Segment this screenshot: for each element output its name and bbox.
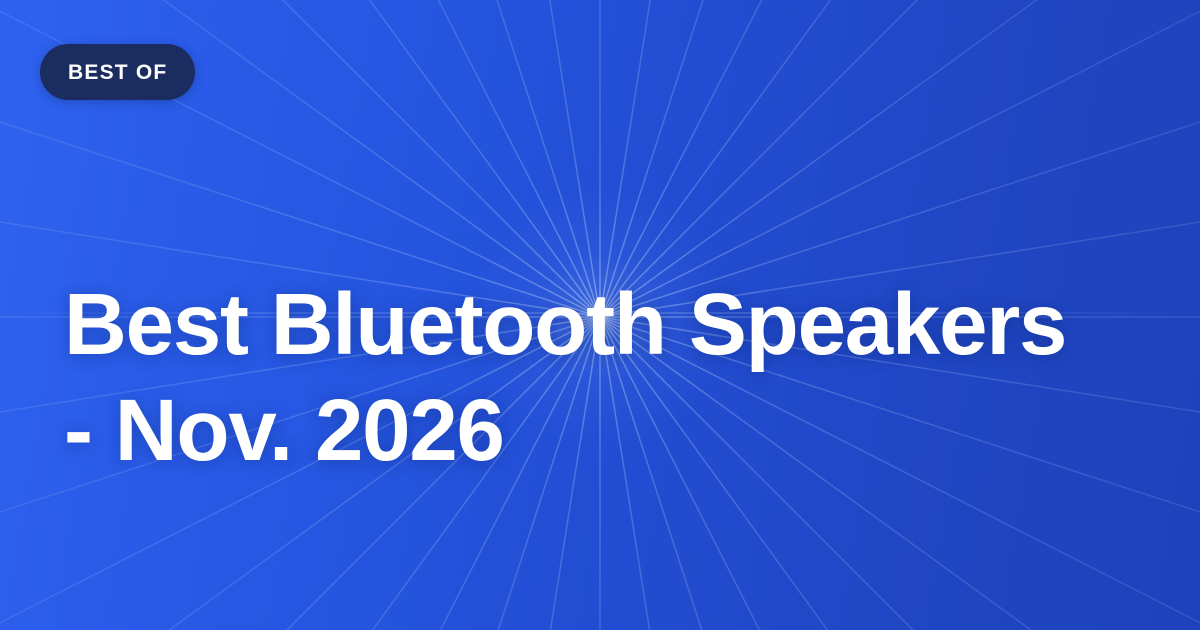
page-title-line-1: Best Bluetooth Speakers [64, 272, 1154, 378]
page-title: Best Bluetooth Speakers - Nov. 2026 [64, 272, 1154, 484]
page-title-line-2: - Nov. 2026 [64, 378, 1154, 484]
badge-label: BEST OF [68, 62, 167, 83]
best-of-badge: BEST OF [40, 44, 195, 100]
card-content: BEST OF Best Bluetooth Speakers - Nov. 2… [0, 0, 1200, 630]
best-of-hero-card: BEST OF Best Bluetooth Speakers - Nov. 2… [0, 0, 1200, 630]
